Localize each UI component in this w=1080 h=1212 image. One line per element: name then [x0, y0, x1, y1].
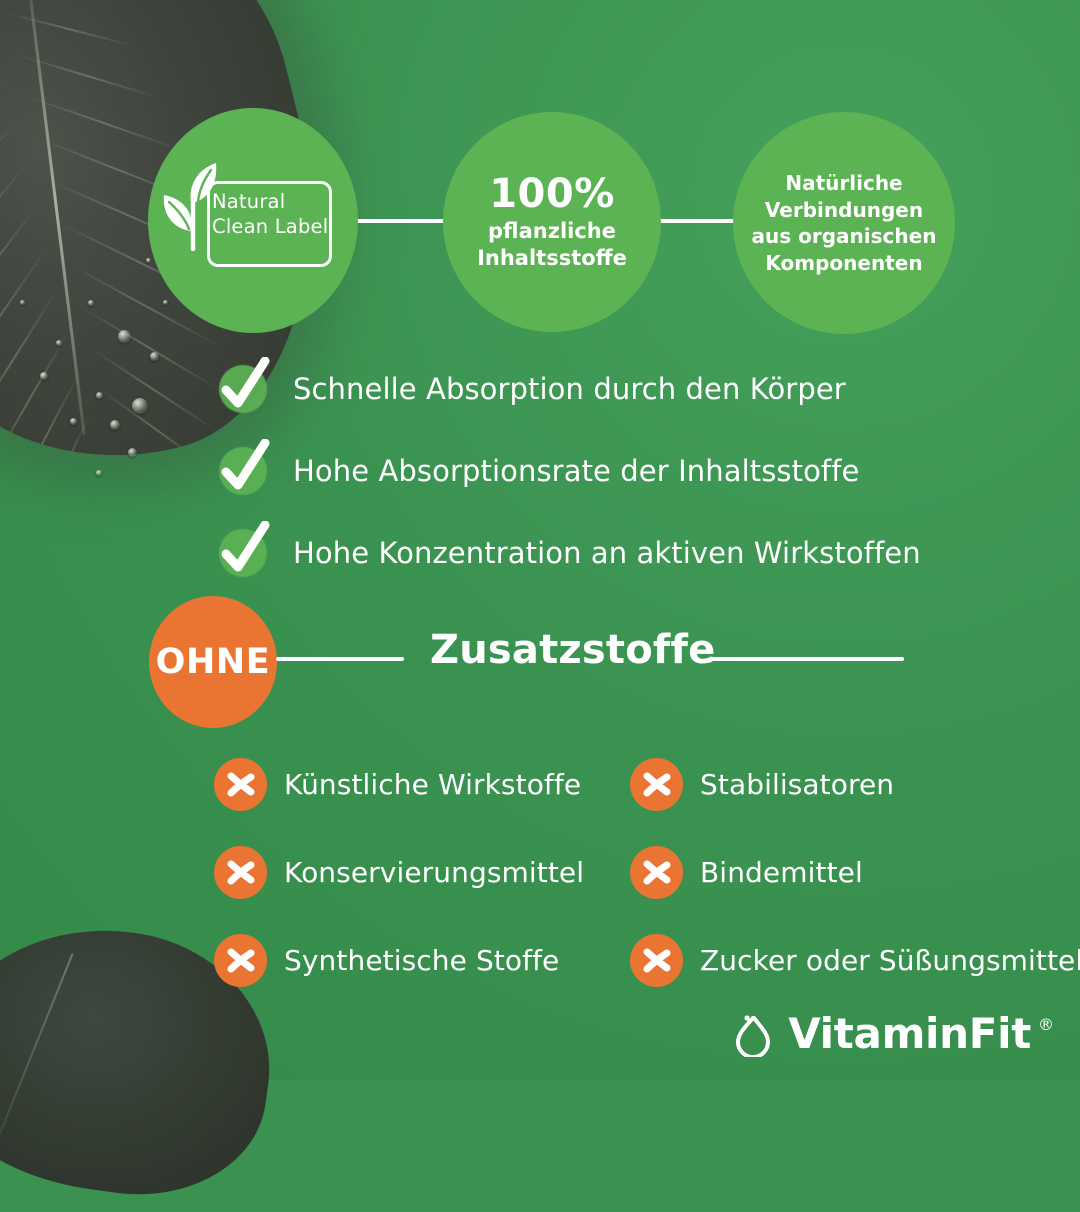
badge-plant-based: 100% pflanzliche Inhaltsstoffe: [443, 112, 661, 332]
badge-row: Natural Clean Label 100% pflanzliche Inh…: [0, 108, 1080, 340]
connector-line-1: [351, 219, 451, 223]
exclusions-right-column: Stabilisatoren Bindemittel: [630, 740, 1080, 1004]
benefit-row: Hohe Absorptionsrate der Inhaltsstoffe: [213, 430, 1013, 512]
exclusion-row: Zucker oder Süßungsmittel: [630, 916, 1080, 1004]
x-glyph-icon: [630, 758, 683, 811]
ohne-badge: OHNE: [149, 596, 277, 728]
water-droplet: [132, 398, 148, 414]
check-icon: [213, 523, 273, 583]
natural-compounds-line-2: Verbindungen: [752, 197, 937, 224]
check-glyph-icon: [213, 439, 273, 501]
trademark-symbol: ®: [1038, 1015, 1054, 1034]
water-droplet: [40, 372, 48, 380]
ohne-label: OHNE: [156, 642, 271, 682]
water-droplet: [70, 418, 77, 425]
exclusions-left-column: Künstliche Wirkstoffe Konservierungsmitt…: [214, 740, 630, 1004]
plant-based-subtitle: pflanzliche Inhaltsstoffe: [477, 218, 627, 272]
without-section-header: OHNE Zusatzstoffe: [0, 596, 1080, 728]
x-glyph-icon: [214, 758, 267, 811]
exclusion-row: Konservierungsmittel: [214, 828, 630, 916]
check-icon: [213, 441, 273, 501]
x-icon: [630, 934, 683, 987]
benefit-label: Hohe Konzentration an aktiven Wirkstoffe…: [293, 536, 921, 570]
check-icon: [213, 359, 273, 419]
clean-label-line-2: Clean Label: [212, 214, 330, 239]
water-droplet: [96, 470, 102, 476]
water-droplet: [20, 300, 25, 305]
water-droplet: [128, 448, 137, 457]
water-droplet: [150, 352, 159, 361]
x-icon: [214, 934, 267, 987]
benefit-row: Schnelle Absorption durch den Körper: [213, 348, 1013, 430]
exclusion-label: Stabilisatoren: [700, 768, 894, 801]
water-droplet: [88, 300, 94, 306]
plant-based-line-2: Inhaltsstoffe: [477, 245, 627, 272]
exclusion-label: Bindemittel: [700, 856, 863, 889]
water-droplet: [163, 300, 168, 305]
exclusion-row: Stabilisatoren: [630, 740, 1080, 828]
plant-based-line-1: pflanzliche: [477, 218, 627, 245]
exclusion-label: Konservierungsmittel: [284, 856, 584, 889]
x-icon: [630, 846, 683, 899]
clean-label-line-1: Natural: [212, 189, 330, 214]
water-droplet: [110, 420, 120, 430]
badge-natural-compounds: Natürliche Verbindungen aus organischen …: [733, 112, 955, 334]
benefit-label: Schnelle Absorption durch den Körper: [293, 372, 846, 406]
check-glyph-icon: [213, 357, 273, 419]
x-glyph-icon: [630, 846, 683, 899]
zusatzstoffe-title: Zusatzstoffe: [430, 627, 715, 673]
brand-name: VitaminFit: [788, 1009, 1031, 1058]
exclusion-row: Künstliche Wirkstoffe: [214, 740, 630, 828]
exclusion-row: Bindemittel: [630, 828, 1080, 916]
water-droplet: [56, 340, 62, 346]
water-droplet: [118, 330, 131, 343]
exclusion-label: Künstliche Wirkstoffe: [284, 768, 581, 801]
benefits-list: Schnelle Absorption durch den Körper Hoh…: [213, 348, 1013, 594]
badge-clean-label: Natural Clean Label: [148, 108, 358, 333]
check-glyph-icon: [213, 521, 273, 583]
x-icon: [214, 846, 267, 899]
natural-compounds-line-3: aus organischen: [752, 223, 937, 250]
plant-based-percent: 100%: [489, 172, 615, 216]
droplet-icon: [731, 1011, 775, 1057]
brand-logo: VitaminFit ®: [731, 1009, 1054, 1058]
x-icon: [630, 758, 683, 811]
water-droplet: [146, 258, 151, 263]
natural-compounds-line-1: Natürliche: [752, 170, 937, 197]
connector-line-2: [653, 219, 741, 223]
natural-compounds-line-4: Komponenten: [752, 250, 937, 277]
x-glyph-icon: [630, 934, 683, 987]
x-glyph-icon: [214, 934, 267, 987]
clean-label-text: Natural Clean Label: [212, 189, 330, 239]
benefit-row: Hohe Konzentration an aktiven Wirkstoffe…: [213, 512, 1013, 594]
water-droplet: [96, 392, 103, 399]
exclusions-grid: Künstliche Wirkstoffe Konservierungsmitt…: [214, 740, 1080, 1004]
benefit-label: Hohe Absorptionsrate der Inhaltsstoffe: [293, 454, 860, 488]
exclusion-row: Synthetische Stoffe: [214, 916, 630, 1004]
exclusion-label: Synthetische Stoffe: [284, 944, 559, 977]
x-icon: [214, 758, 267, 811]
divider-left: [276, 657, 404, 661]
divider-right: [708, 657, 904, 661]
x-glyph-icon: [214, 846, 267, 899]
natural-compounds-text: Natürliche Verbindungen aus organischen …: [752, 170, 937, 276]
exclusion-label: Zucker oder Süßungsmittel: [700, 944, 1080, 977]
